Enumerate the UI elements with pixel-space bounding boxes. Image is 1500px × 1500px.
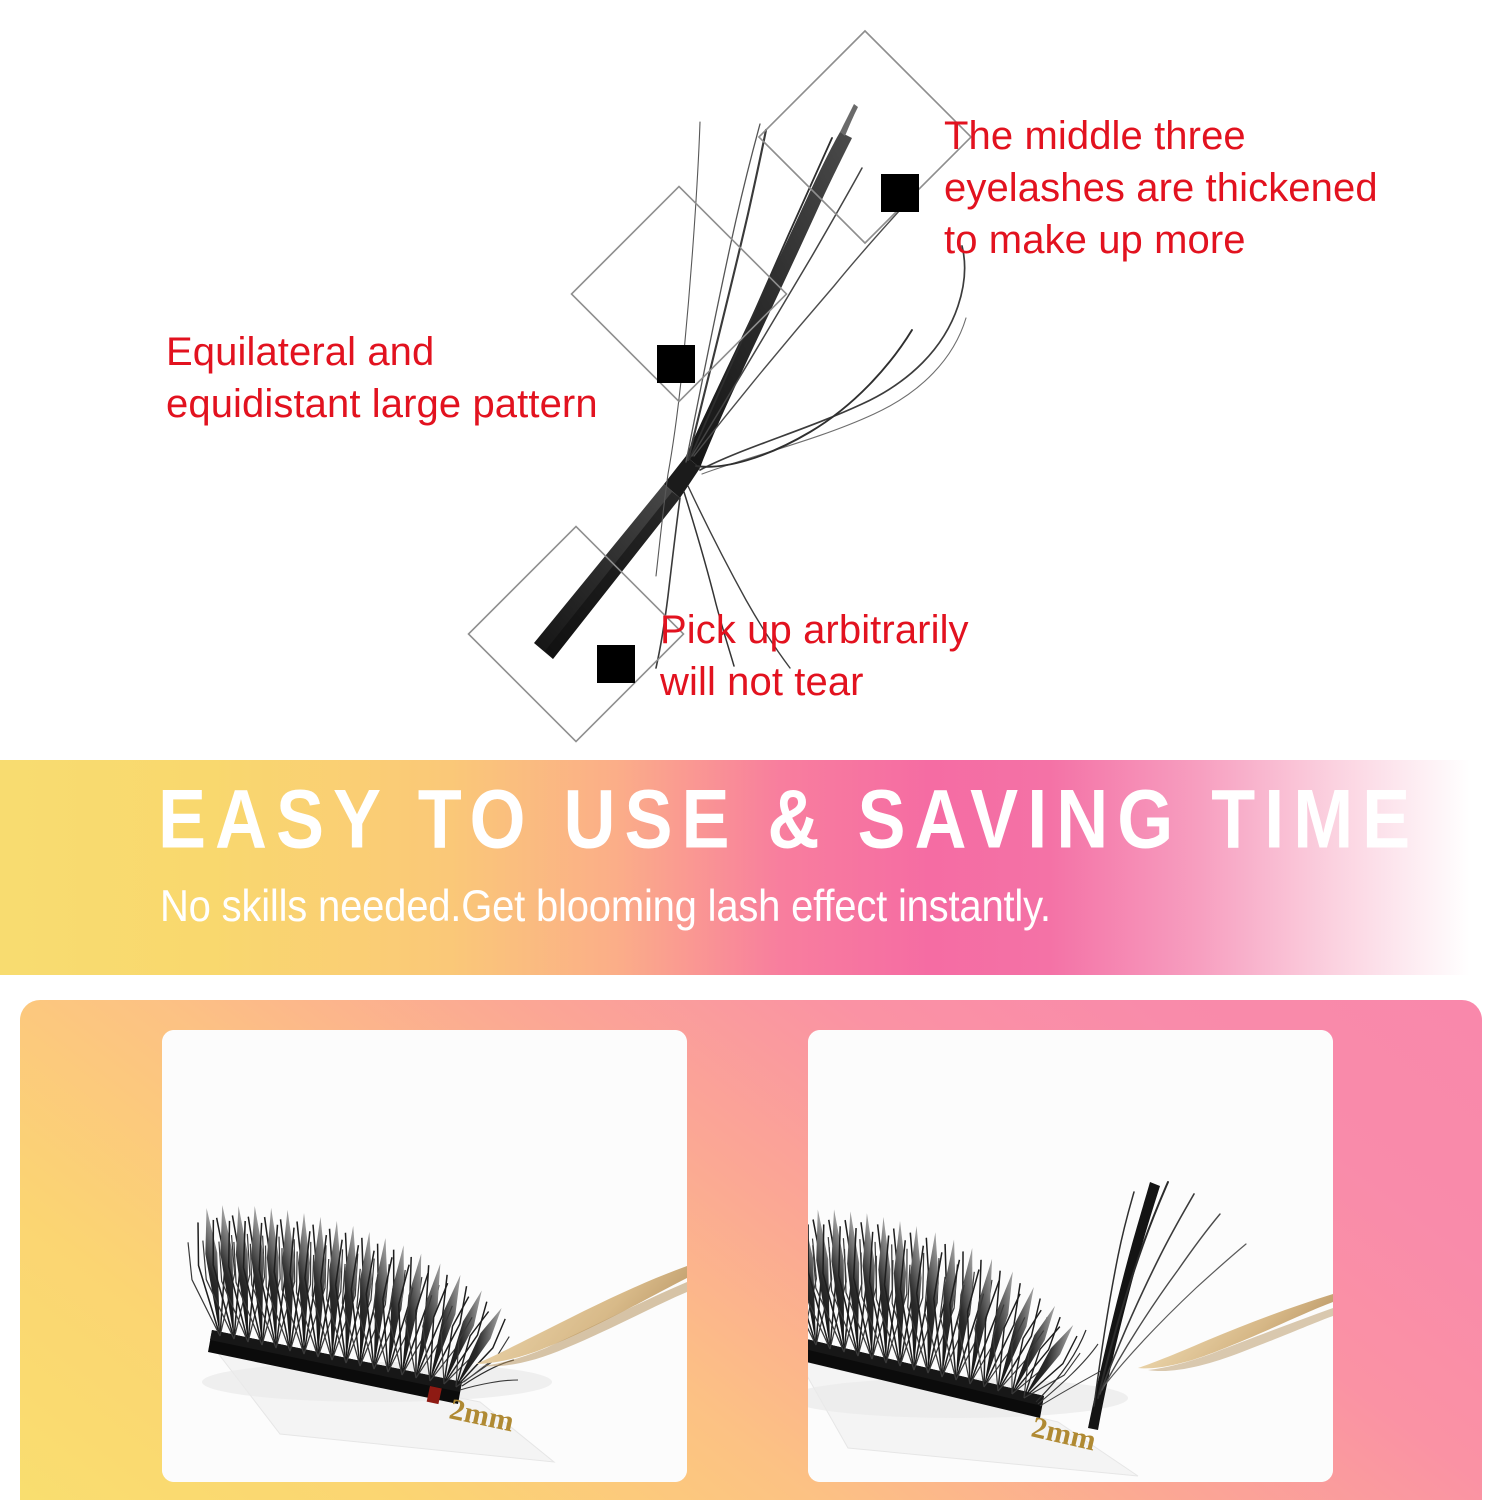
- features-illustration-section: The middle three eyelashes are thickened…: [0, 0, 1500, 760]
- diamond-marker-lower: [469, 527, 684, 742]
- banner-headline: EASY TO USE & SAVING TIME: [158, 778, 1419, 862]
- photo-card-lash-tray-tweezers: 2mm: [162, 1030, 687, 1482]
- banner-subtitle: No skills needed.Get blooming lash effec…: [160, 884, 1051, 929]
- marker-square-upper: [881, 174, 919, 212]
- callout-pick-up-no-tear: Pick up arbitrarily will not tear: [660, 604, 969, 708]
- callout-middle-three-eyelashes: The middle three eyelashes are thickened…: [944, 110, 1378, 266]
- photo-lash-tray-tweezers: 2mm: [162, 1030, 687, 1482]
- callout-equilateral-pattern: Equilateral and equidistant large patter…: [166, 326, 598, 430]
- diamond-marker-upper: [759, 31, 971, 243]
- photo-lash-fan-pickup: 2mm: [808, 1030, 1333, 1482]
- marker-square-middle: [657, 345, 695, 383]
- marker-square-lower: [597, 645, 635, 683]
- product-photos-panel: 2mm: [20, 1000, 1482, 1500]
- easy-to-use-banner: EASY TO USE & SAVING TIME No skills need…: [0, 760, 1500, 975]
- photo-card-lash-fan-pickup: 2mm: [808, 1030, 1333, 1482]
